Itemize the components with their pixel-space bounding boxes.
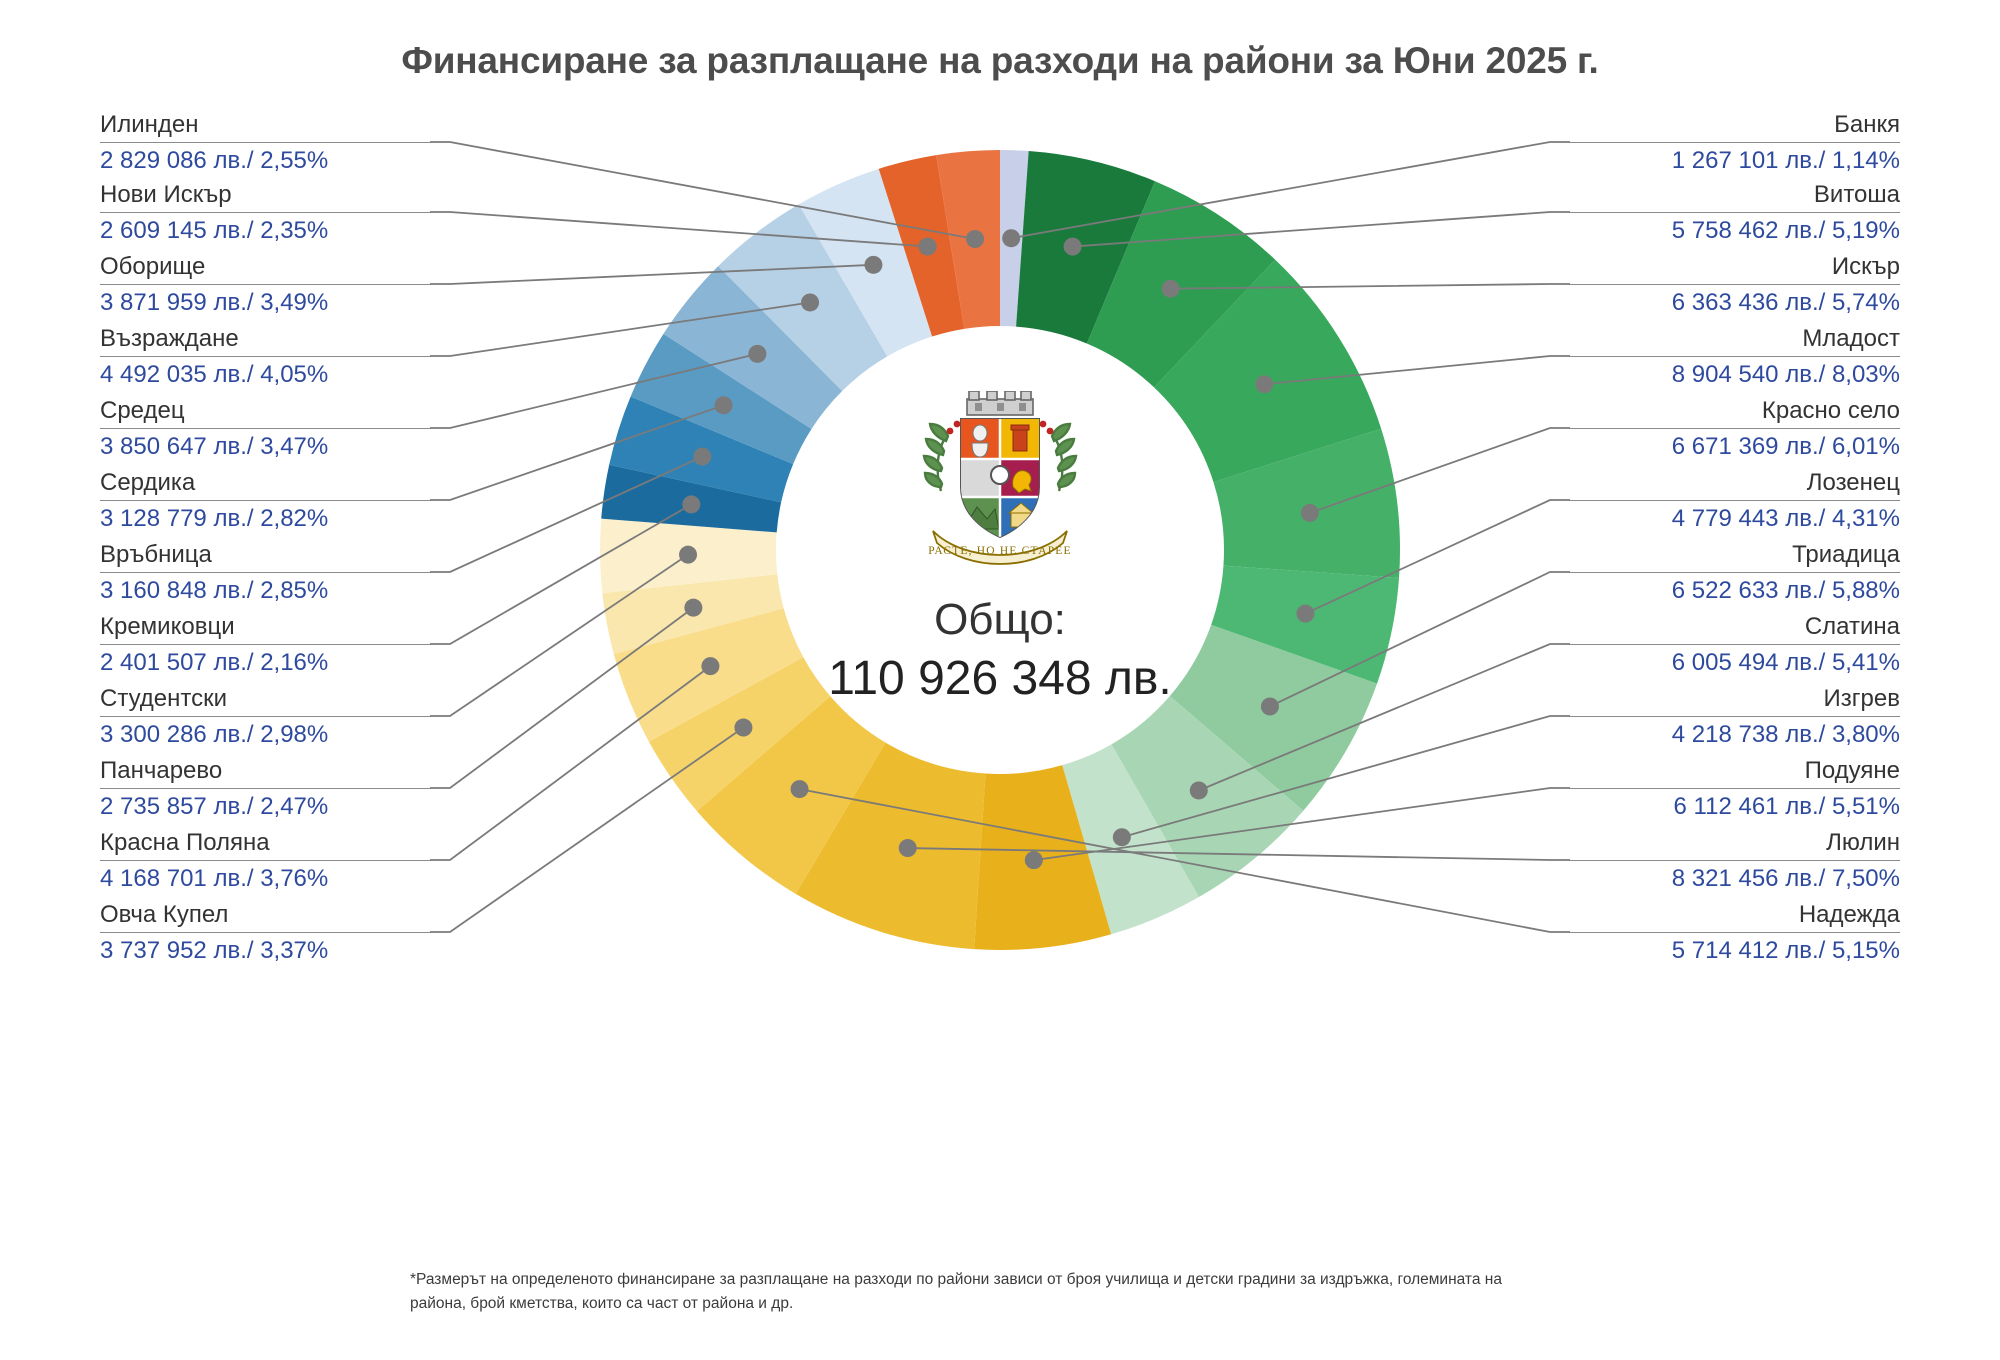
label-right-2: Искър6 363 436 лв./ 5,74%	[1570, 252, 1900, 318]
footnote-line-1: *Размерът на определеното финансиране за…	[410, 1271, 1316, 1288]
district-value: 2 609 145 лв./ 2,35%	[100, 216, 430, 246]
leader-dot-right-1	[1064, 238, 1082, 256]
label-rule	[100, 142, 430, 143]
label-left-9: Панчарево2 735 857 лв./ 2,47%	[100, 756, 430, 822]
leader-dot-left-8	[679, 546, 697, 564]
district-value: 3 300 286 лв./ 2,98%	[100, 720, 430, 750]
district-value: 6 112 461 лв./ 5,51%	[1570, 792, 1900, 822]
label-left-6: Връбница3 160 848 лв./ 2,85%	[100, 540, 430, 606]
district-value: 2 829 086 лв./ 2,55%	[100, 146, 430, 176]
label-right-8: Изгрев4 218 738 лв./ 3,80%	[1570, 684, 1900, 750]
label-right-5: Лозенец4 779 443 лв./ 4,31%	[1570, 468, 1900, 534]
label-rule	[100, 716, 430, 717]
district-name: Панчарево	[100, 756, 430, 786]
label-rule	[100, 356, 430, 357]
label-rule	[100, 788, 430, 789]
district-name: Нови Искър	[100, 180, 430, 210]
label-rule	[100, 284, 430, 285]
label-rule	[100, 212, 430, 213]
leader-dot-right-4	[1301, 504, 1319, 522]
leader-dot-left-4	[748, 345, 766, 363]
label-rule	[1570, 500, 1900, 501]
label-right-4: Красно село6 671 369 лв./ 6,01%	[1570, 396, 1900, 462]
district-value: 5 714 412 лв./ 5,15%	[1570, 936, 1900, 966]
district-name: Банкя	[1570, 110, 1900, 140]
leader-dot-left-1	[919, 238, 937, 256]
leader-dot-right-5	[1296, 605, 1314, 623]
leader-dot-left-0	[966, 230, 984, 248]
leader-dot-left-7	[682, 495, 700, 513]
district-value: 2 735 857 лв./ 2,47%	[100, 792, 430, 822]
label-left-0: Илинден2 829 086 лв./ 2,55%	[100, 110, 430, 176]
district-name: Искър	[1570, 252, 1900, 282]
district-value: 6 671 369 лв./ 6,01%	[1570, 432, 1900, 462]
district-value: 8 321 456 лв./ 7,50%	[1570, 864, 1900, 894]
district-value: 6 363 436 лв./ 5,74%	[1570, 288, 1900, 318]
district-value: 2 401 507 лв./ 2,16%	[100, 648, 430, 678]
label-right-6: Триадица6 522 633 лв./ 5,88%	[1570, 540, 1900, 606]
label-rule	[1570, 212, 1900, 213]
leader-dot-left-2	[864, 256, 882, 274]
district-value: 6 522 633 лв./ 5,88%	[1570, 576, 1900, 606]
district-name: Оборище	[100, 252, 430, 282]
label-right-9: Подуяне6 112 461 лв./ 5,51%	[1570, 756, 1900, 822]
leader-dot-left-6	[693, 448, 711, 466]
district-name: Илинден	[100, 110, 430, 140]
leader-dot-right-8	[1113, 828, 1131, 846]
leader-dot-right-0	[1002, 229, 1020, 247]
district-name: Витоша	[1570, 180, 1900, 210]
district-name: Средец	[100, 396, 430, 426]
district-name: Възраждане	[100, 324, 430, 354]
leader-dot-left-9	[684, 599, 702, 617]
donut-svg	[430, 70, 1570, 1030]
leader-dot-left-11	[734, 719, 752, 737]
label-rule	[100, 860, 430, 861]
district-value: 6 005 494 лв./ 5,41%	[1570, 648, 1900, 678]
district-name: Слатина	[1570, 612, 1900, 642]
label-rule	[100, 572, 430, 573]
label-left-8: Студентски3 300 286 лв./ 2,98%	[100, 684, 430, 750]
leader-dot-left-10	[701, 657, 719, 675]
district-name: Надежда	[1570, 900, 1900, 930]
label-right-1: Витоша5 758 462 лв./ 5,19%	[1570, 180, 1900, 246]
leader-dot-left-5	[715, 396, 733, 414]
donut-chart: РАСТЕ, НО НЕ СТАРЕЕ Общо: 110 926 348 лв…	[430, 70, 1570, 1030]
district-name: Красна Поляна	[100, 828, 430, 858]
label-left-3: Възраждане4 492 035 лв./ 4,05%	[100, 324, 430, 390]
district-name: Подуяне	[1570, 756, 1900, 786]
label-right-0: Банкя1 267 101 лв./ 1,14%	[1570, 110, 1900, 176]
district-name: Люлин	[1570, 828, 1900, 858]
label-rule	[100, 500, 430, 501]
leader-dot-right-6	[1261, 697, 1279, 715]
label-right-3: Младост8 904 540 лв./ 8,03%	[1570, 324, 1900, 390]
label-right-10: Люлин8 321 456 лв./ 7,50%	[1570, 828, 1900, 894]
leader-dot-right-2	[1162, 280, 1180, 298]
label-rule	[1570, 284, 1900, 285]
district-name: Сердика	[100, 468, 430, 498]
district-name: Студентски	[100, 684, 430, 714]
label-right-11: Надежда5 714 412 лв./ 5,15%	[1570, 900, 1900, 966]
district-value: 1 267 101 лв./ 1,14%	[1570, 146, 1900, 176]
leader-dot-right-3	[1255, 375, 1273, 393]
label-rule	[100, 428, 430, 429]
district-name: Кремиковци	[100, 612, 430, 642]
label-left-2: Оборище3 871 959 лв./ 3,49%	[100, 252, 430, 318]
district-value: 4 218 738 лв./ 3,80%	[1570, 720, 1900, 750]
district-name: Триадица	[1570, 540, 1900, 570]
leader-dot-right-10	[899, 839, 917, 857]
district-name: Лозенец	[1570, 468, 1900, 498]
district-name: Красно село	[1570, 396, 1900, 426]
district-value: 4 168 701 лв./ 3,76%	[100, 864, 430, 894]
label-left-4: Средец3 850 647 лв./ 3,47%	[100, 396, 430, 462]
label-rule	[100, 644, 430, 645]
label-rule	[1570, 428, 1900, 429]
district-value: 4 492 035 лв./ 4,05%	[100, 360, 430, 390]
footnote: *Размерът на определеното финансиране за…	[410, 1268, 1530, 1316]
district-name: Овча Купел	[100, 900, 430, 930]
label-left-7: Кремиковци2 401 507 лв./ 2,16%	[100, 612, 430, 678]
district-value: 3 871 959 лв./ 3,49%	[100, 288, 430, 318]
district-value: 3 128 779 лв./ 2,82%	[100, 504, 430, 534]
leader-dot-left-3	[801, 293, 819, 311]
leader-dot-right-9	[1025, 851, 1043, 869]
infographic-root: Финансиране за разплащане на разходи на …	[0, 0, 2000, 1360]
district-name: Младост	[1570, 324, 1900, 354]
leader-dot-right-11	[791, 780, 809, 798]
label-left-10: Красна Поляна4 168 701 лв./ 3,76%	[100, 828, 430, 894]
district-value: 8 904 540 лв./ 8,03%	[1570, 360, 1900, 390]
label-rule	[1570, 932, 1900, 933]
district-value: 5 758 462 лв./ 5,19%	[1570, 216, 1900, 246]
label-rule	[1570, 356, 1900, 357]
label-right-7: Слатина6 005 494 лв./ 5,41%	[1570, 612, 1900, 678]
district-value: 3 737 952 лв./ 3,37%	[100, 936, 430, 966]
label-rule	[1570, 572, 1900, 573]
label-rule	[1570, 644, 1900, 645]
label-rule	[1570, 860, 1900, 861]
label-left-1: Нови Искър2 609 145 лв./ 2,35%	[100, 180, 430, 246]
label-rule	[1570, 788, 1900, 789]
district-name: Връбница	[100, 540, 430, 570]
label-left-11: Овча Купел3 737 952 лв./ 3,37%	[100, 900, 430, 966]
label-rule	[100, 932, 430, 933]
district-value: 4 779 443 лв./ 4,31%	[1570, 504, 1900, 534]
leader-dot-right-7	[1190, 781, 1208, 799]
district-value: 3 850 647 лв./ 3,47%	[100, 432, 430, 462]
district-value: 3 160 848 лв./ 2,85%	[100, 576, 430, 606]
label-left-5: Сердика3 128 779 лв./ 2,82%	[100, 468, 430, 534]
label-rule	[1570, 716, 1900, 717]
district-name: Изгрев	[1570, 684, 1900, 714]
label-rule	[1570, 142, 1900, 143]
